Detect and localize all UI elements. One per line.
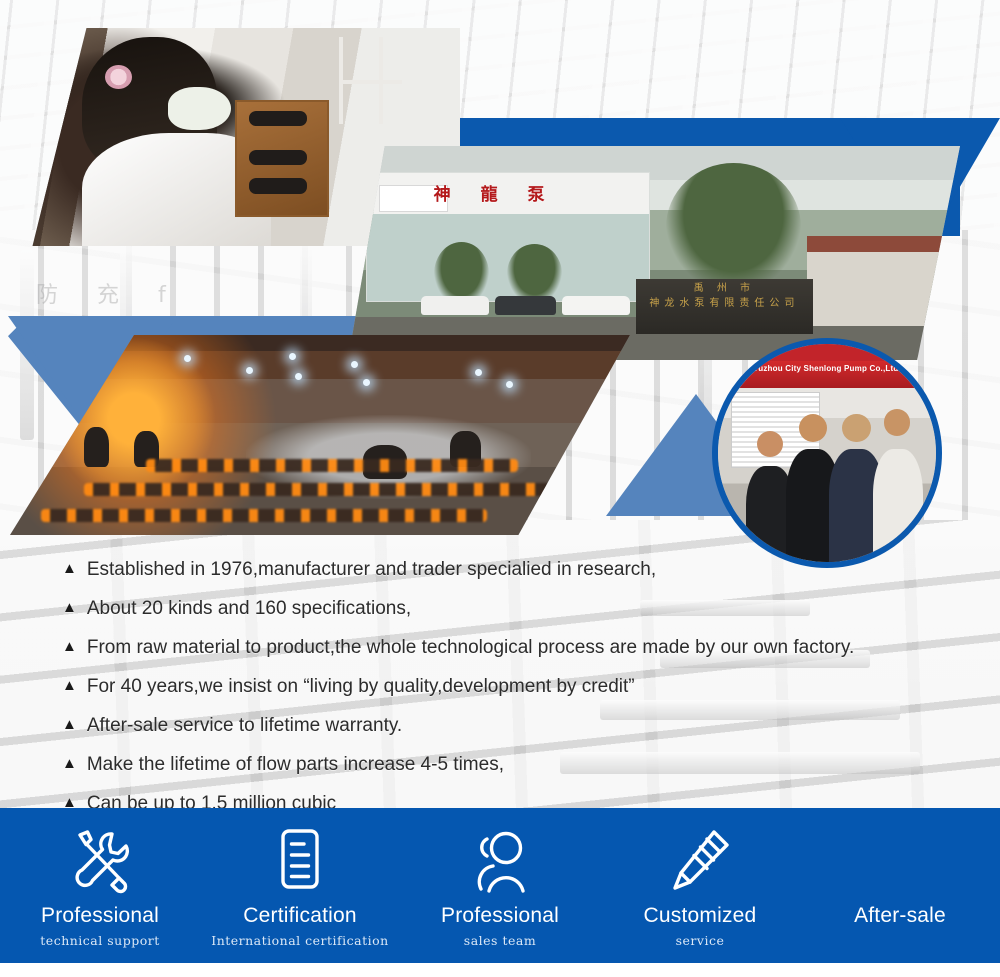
factory-gate-photo: 神 龍 泵 禹 州 市 神龙水泵有限责任公司: [348, 146, 960, 360]
triangle-bullet-icon: ▲: [62, 560, 77, 579]
triangle-bullet-icon: ▲: [62, 599, 77, 618]
feature-title: Customized: [644, 904, 757, 928]
feature-title: After-sale: [854, 904, 946, 928]
feature-title: Professional: [41, 904, 159, 928]
two-people-icon: [465, 824, 535, 898]
molten-mold-row: [146, 459, 518, 472]
parked-car: [562, 296, 629, 315]
booth-banner-text: Yuzhou City Shenlong Pump Co.,Ltd.: [718, 361, 936, 378]
triangle-bullet-icon: ▲: [62, 716, 77, 735]
parked-car: [495, 296, 556, 315]
willow-tree: [666, 163, 801, 291]
hair-flower: [105, 65, 132, 89]
gate-photo-content: 神 龍 泵 禹 州 市 神龙水泵有限责任公司: [348, 146, 960, 360]
document-icon: [270, 824, 330, 898]
triangle-bullet-icon: ▲: [62, 638, 77, 657]
list-item-label: Established in 1976,manufacturer and tra…: [87, 560, 656, 579]
ceiling-lamp: [506, 381, 513, 388]
list-item: ▲ From raw material to product,the whole…: [62, 638, 962, 657]
cabinet-roller: [249, 150, 308, 165]
list-item-label: Make the lifetime of flow parts increase…: [87, 755, 504, 774]
foundry-worker: [84, 427, 109, 467]
list-item: ▲ About 20 kinds and 160 specifications,: [62, 599, 962, 618]
ceiling-lamp: [363, 379, 370, 386]
company-highlights-list: ▲ Established in 1976,manufacturer and t…: [62, 560, 962, 833]
ceiling-lamp: [289, 353, 296, 360]
feature-professional-sales-team: Professional sales team: [400, 808, 600, 948]
feature-subtitle: sales team: [464, 933, 536, 948]
list-item: ▲ After-sale service to lifetime warrant…: [62, 716, 962, 735]
feature-professional-technical-support: Professional technical support: [0, 808, 200, 948]
bottom-white-strip: [0, 963, 1000, 977]
feature-customized-service: Customized service: [600, 808, 800, 948]
team-exhibition-photo: Yuzhou City Shenlong Pump Co.,Ltd.: [712, 338, 942, 568]
feature-after-sale: After-sale: [800, 808, 1000, 933]
company-profile-banner: 防 充 f 神 龍 泵: [0, 0, 1000, 977]
ceiling-lamp: [295, 373, 302, 380]
cabinet-roller: [249, 178, 308, 193]
list-item: ▲ For 40 years,we insist on “living by q…: [62, 677, 962, 696]
feature-subtitle: technical support: [40, 933, 159, 948]
wall-pipe: [339, 80, 402, 84]
person-head: [884, 409, 910, 435]
list-item-label: After-sale service to lifetime warranty.: [87, 716, 402, 735]
feature-title: Certification: [243, 904, 356, 928]
red-roof-house: [807, 236, 948, 326]
background-watermark-text: 防 充 f: [36, 277, 182, 309]
list-item-label: From raw material to product,the whole t…: [87, 638, 854, 657]
person-head: [842, 414, 870, 442]
team-photo-content: Yuzhou City Shenlong Pump Co.,Ltd.: [718, 344, 936, 562]
feature-title: Professional: [441, 904, 559, 928]
molten-mold-row: [41, 509, 487, 522]
cabinet-roller: [249, 111, 308, 126]
feature-certification: Certification International certificatio…: [200, 808, 400, 948]
triangle-bullet-icon: ▲: [62, 755, 77, 774]
booth-banner: Yuzhou City Shenlong Pump Co.,Ltd.: [718, 361, 936, 387]
triangle-bullet-icon: ▲: [62, 677, 77, 696]
ceiling-lamp: [184, 355, 191, 362]
face-mask: [168, 87, 231, 131]
ceiling-lamp: [246, 367, 253, 374]
pencil-icon: [667, 824, 733, 898]
list-item-label: About 20 kinds and 160 specifications,: [87, 599, 411, 618]
factory-sign-text: 神 龍 泵: [434, 180, 557, 205]
list-item-label: For 40 years,we insist on “living by qua…: [87, 677, 635, 696]
company-wall-sign: 禹 州 市 神龙水泵有限责任公司: [636, 279, 813, 335]
person-head: [799, 414, 827, 442]
wall-sign-line1: 禹 州 市: [636, 279, 813, 294]
feature-subtitle: International certification: [211, 933, 388, 948]
parked-car: [421, 296, 488, 315]
ceiling-lamp: [351, 361, 358, 368]
services-banner: Professional technical support Certifica…: [0, 808, 1000, 963]
wrench-screwdriver-icon: [64, 824, 136, 898]
list-item: ▲ Established in 1976,manufacturer and t…: [62, 560, 962, 579]
molten-mold-row: [84, 483, 555, 496]
ceiling-lamp: [475, 369, 482, 376]
person-body: [873, 449, 923, 562]
feature-subtitle: service: [676, 933, 725, 948]
wall-sign-line2: 神龙水泵有限责任公司: [636, 294, 813, 309]
list-item: ▲ Make the lifetime of flow parts increa…: [62, 755, 962, 774]
